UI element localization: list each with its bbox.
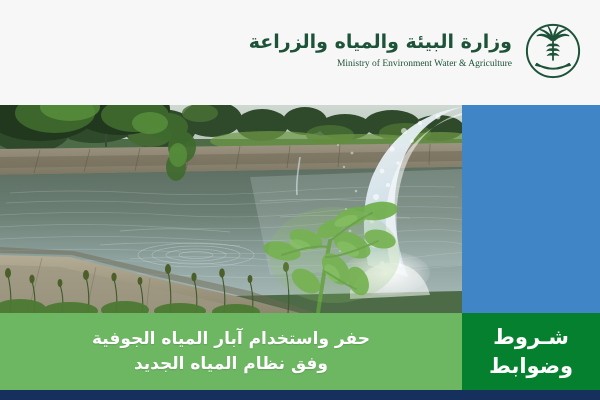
subtitle-panel: شـروط وضوابط [462, 313, 600, 390]
bottom-navy-strip [0, 390, 600, 400]
headline-band: حفر واستخدام آبار المياه الجوفية وفق نظا… [0, 313, 462, 390]
subtitle-text: شـروط وضوابط [489, 323, 573, 380]
ministry-logo-text: وزارة البيئة والمياه والزراعة Ministry o… [249, 31, 512, 70]
ministry-logo: وزارة البيئة والمياه والزراعة Ministry o… [249, 22, 582, 80]
poster-root: وزارة البيئة والمياه والزراعة Ministry o… [0, 0, 600, 400]
ministry-name-english: Ministry of Environment Water & Agricult… [337, 58, 512, 70]
headline-line-2: وفق نظام المياه الجديد [92, 352, 370, 377]
ministry-name-arabic: وزارة البيئة والمياه والزراعة [249, 31, 512, 55]
headline-line-1: حفر واستخدام آبار المياه الجوفية [92, 327, 370, 352]
subtitle-line-2: وضوابط [489, 352, 573, 380]
palm-tree-and-crossed-swords-icon [524, 22, 582, 80]
headline-text: حفر واستخدام آبار المياه الجوفية وفق نظا… [78, 327, 384, 376]
header-bar: وزارة البيئة والمياه والزراعة Ministry o… [0, 0, 600, 105]
subtitle-line-1: شـروط [489, 323, 573, 351]
irrigation-canal-with-groundwater-jet-photo [0, 105, 462, 313]
blue-accent-panel [462, 105, 600, 313]
